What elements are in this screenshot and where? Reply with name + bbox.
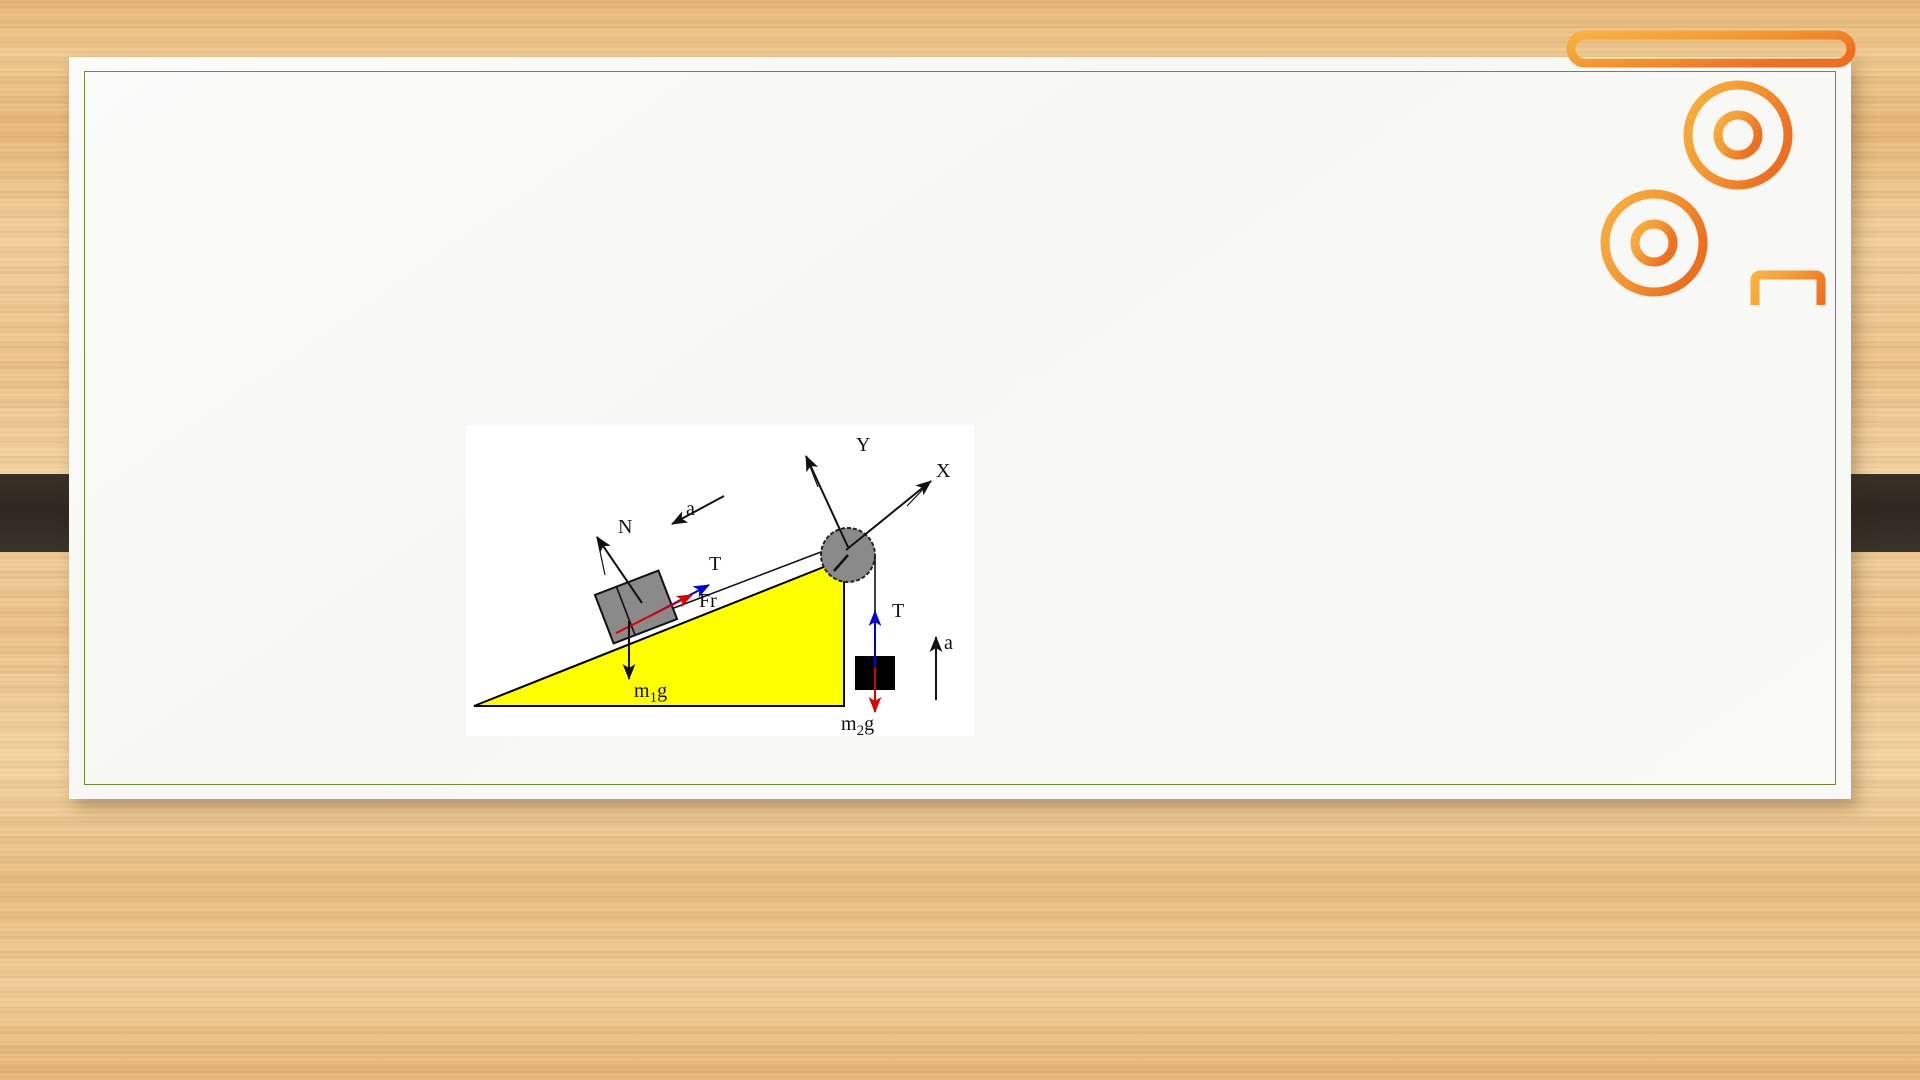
physics-diagram: N a T Fr m1g Y X T m2g a [466,425,974,736]
normal-force-label: N [618,516,632,538]
acceleration-hanging-label: a [944,632,953,654]
axis-x-label: X [936,460,951,482]
acceleration-incline-label: a [686,498,695,520]
friction-force-label: Fr [699,590,717,612]
tension-hanging-label: T [892,600,904,622]
pulley-system-icon [1566,30,1856,305]
tension-block-label: T [709,553,721,575]
axis-y-label: Y [856,434,870,456]
